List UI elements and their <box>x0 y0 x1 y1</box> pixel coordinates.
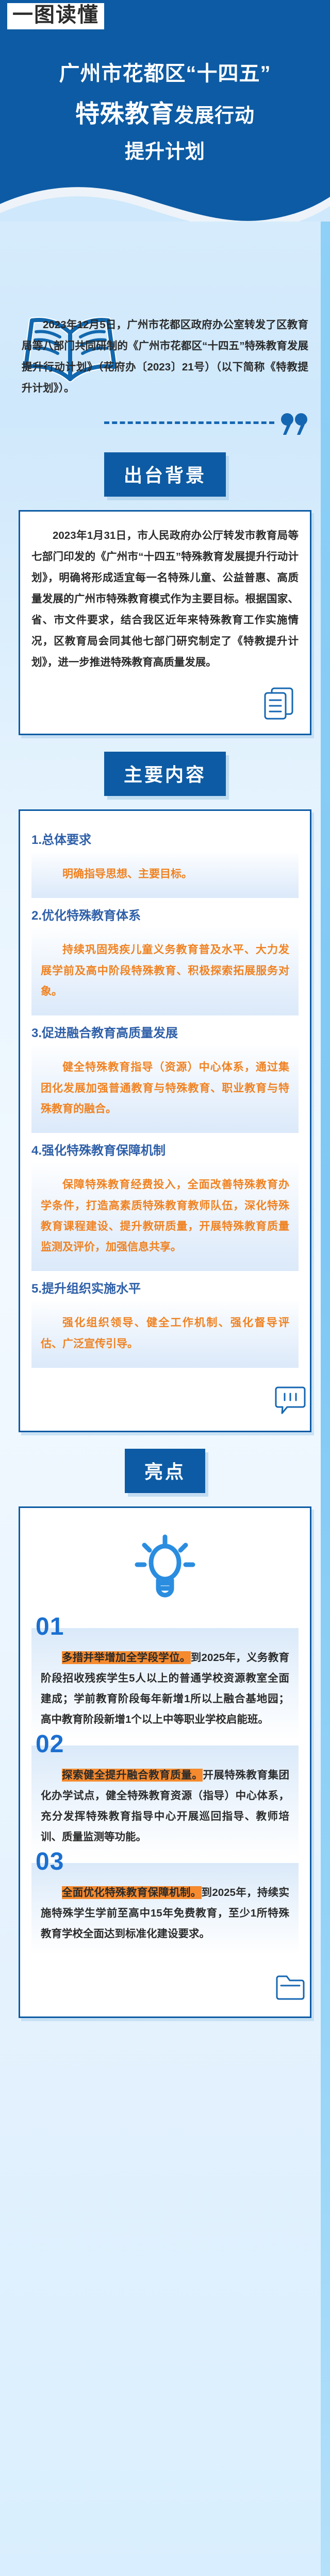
title-emphasis: 特殊教育 <box>75 100 174 127</box>
content-item-body: 持续巩固残疾儿童义务教育普及水平、大力发展学前及高中阶段特殊教育、积极探索拓展服… <box>31 928 299 1015</box>
section-chip-content: 主要内容 <box>104 752 226 796</box>
highlight-marked-phrase: 多措并举增加全学段学位。 <box>62 1651 191 1664</box>
content-item-4: 4.强化特殊教育保障机制 保障特殊教育经费投入，全面改善特殊教育办学条件，打造高… <box>20 1133 310 1271</box>
content-item-body: 健全特殊教育指导（资源）中心体系，通过集团化发展加强普通教育与特殊教育、职业教育… <box>31 1046 299 1133</box>
intro-block: 2023年12月5日，广州市花都区政府办公室转发了区教育局等八部门共同研制的《广… <box>0 314 330 436</box>
infographic-page: 一图读懂 广州市花都区“十四五” 特殊教育发展行动 提升计划 <box>0 0 330 2576</box>
content-item-title: 2.优化特殊教育体系 <box>20 898 310 928</box>
content-item-title: 4.强化特殊教育保障机制 <box>20 1133 310 1163</box>
highlight-text: 全面优化特殊教育保障机制。到2025年，持续实施特殊学生学前至高中15年免费教育… <box>41 1883 289 1944</box>
highlights-card-icon-row <box>20 1955 310 2004</box>
content-item-title: 1.总体要求 <box>20 822 310 853</box>
bulb-icon-wrap <box>20 1523 310 1623</box>
highlight-item-2: 02 探索健全提升融合教育质量。开展特殊教育集团化办学试点，健全特殊教育资源（指… <box>20 1745 310 1858</box>
section-chip-content-wrap: 主要内容 <box>0 752 330 796</box>
content-item-body: 强化组织领导、健全工作机制、强化督导评估、广泛宣传引导。 <box>31 1301 299 1368</box>
highlights-card: 01 多措并举增加全学段学位。到2025年，义务教育阶段招收残疾学生5人以上的普… <box>19 1506 311 2018</box>
page-header: 一图读懂 广州市花都区“十四五” 特殊教育发展行动 提升计划 <box>0 0 330 222</box>
background-card: 2023年1月31日，市人民政府办公厅转发市教育局等七部门印发的《广州市“十四五… <box>19 510 311 735</box>
content-card-icon-row <box>20 1368 310 1417</box>
section-chip-highlights-wrap: 亮点 <box>0 1449 330 1493</box>
read-one-picture-badge: 一图读懂 <box>7 3 104 29</box>
section-chip-background: 出台背景 <box>104 452 226 497</box>
title-line-2: 特殊教育发展行动 <box>0 94 330 129</box>
title-line-1: 广州市花都区“十四五” <box>0 61 330 87</box>
intro-divider-row <box>0 412 320 436</box>
highlight-item-3: 03 全面优化特殊教育保障机制。到2025年，持续实施特殊学生学前至高中15年免… <box>20 1863 310 1955</box>
highlight-band: 多措并举增加全学段学位。到2025年，义务教育阶段招收残疾学生5人以上的普通学校… <box>31 1628 299 1740</box>
dashed-divider <box>104 421 274 424</box>
section-chip-highlights: 亮点 <box>125 1449 205 1493</box>
content-item-5: 5.提升组织实施水平 强化组织领导、健全工作机制、强化督导评估、广泛宣传引导。 <box>20 1271 310 1368</box>
speech-bubble-icon <box>274 1383 307 1417</box>
content-item-body: 保障特殊教育经费投入，全面改善特殊教育办学条件，打造高素质特殊教育教师队伍，深化… <box>31 1163 299 1271</box>
highlight-marked-phrase: 探索健全提升融合教育质量。 <box>62 1769 203 1782</box>
section-chip-background-wrap: 出台背景 <box>0 452 330 497</box>
title-line-3: 提升计划 <box>0 135 330 164</box>
highlight-item-1: 01 多措并举增加全学段学位。到2025年，义务教育阶段招收残疾学生5人以上的普… <box>20 1628 310 1740</box>
lightbulb-icon <box>134 1533 196 1605</box>
bottom-spacer <box>0 2018 330 2080</box>
background-card-icon-row <box>31 673 299 720</box>
highlight-marked-phrase: 全面优化特殊教育保障机制。 <box>62 1886 202 1899</box>
documents-icon <box>262 686 295 720</box>
content-item-1: 1.总体要求 明确指导思想、主要目标。 <box>20 822 310 898</box>
quote-mark-icon <box>280 412 308 435</box>
content-item-title: 5.提升组织实施水平 <box>20 1271 310 1301</box>
header-wave-divider <box>0 181 330 222</box>
highlight-number: 03 <box>36 1850 64 1874</box>
page-title: 广州市花都区“十四五” 特殊教育发展行动 提升计划 <box>0 61 330 164</box>
highlight-text: 探索健全提升融合教育质量。开展特殊教育集团化办学试点，健全特殊教育资源（指导）中… <box>41 1765 289 1848</box>
background-paragraph: 2023年1月31日，市人民政府办公厅转发市教育局等七部门印发的《广州市“十四五… <box>31 525 299 673</box>
highlight-number: 01 <box>36 1615 64 1639</box>
highlight-text: 多措并举增加全学段学位。到2025年，义务教育阶段招收残疾学生5人以上的普通学校… <box>41 1648 289 1730</box>
title-line-2-suffix: 发展行动 <box>174 105 255 127</box>
main-content-card: 1.总体要求 明确指导思想、主要目标。 2.优化特殊教育体系 持续巩固残疾儿童义… <box>19 809 311 1432</box>
intro-paragraph: 2023年12月5日，广州市花都区政府办公室转发了区教育局等八部门共同研制的《广… <box>22 314 308 399</box>
folder-icon <box>274 1970 307 2004</box>
content-item-body: 明确指导思想、主要目标。 <box>31 853 299 898</box>
highlight-number: 02 <box>36 1732 64 1757</box>
highlight-band: 探索健全提升融合教育质量。开展特殊教育集团化办学试点，健全特殊教育资源（指导）中… <box>31 1745 299 1858</box>
content-item-2: 2.优化特殊教育体系 持续巩固残疾儿童义务教育普及水平、大力发展学前及高中阶段特… <box>20 898 310 1015</box>
right-edge-accent-strip <box>321 206 330 2576</box>
content-item-title: 3.促进融合教育高质量发展 <box>20 1015 310 1046</box>
content-item-3: 3.促进融合教育高质量发展 健全特殊教育指导（资源）中心体系，通过集团化发展加强… <box>20 1015 310 1133</box>
highlight-band: 全面优化特殊教育保障机制。到2025年，持续实施特殊学生学前至高中15年免费教育… <box>31 1863 299 1955</box>
